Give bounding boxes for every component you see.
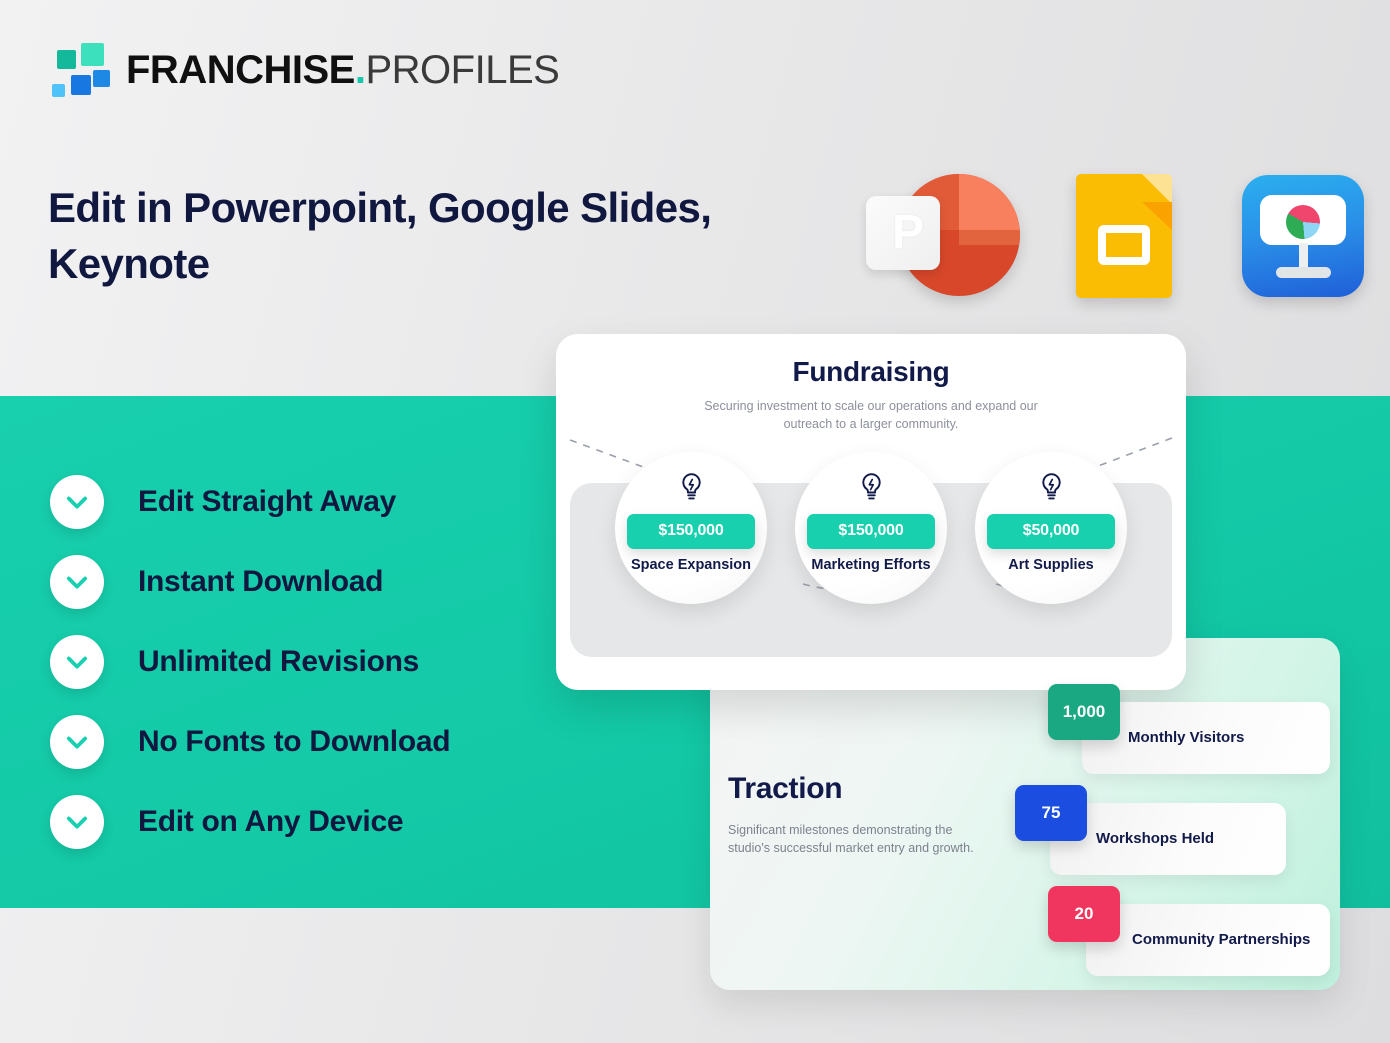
fundraising-item-name: Marketing Efforts [811, 557, 930, 575]
feature-label: Edit Straight Away [138, 485, 396, 519]
traction-metric-bar: Community Partnerships [1086, 904, 1330, 976]
lightbulb-bolt-icon [1038, 472, 1065, 507]
brand-name-dot: . [355, 48, 366, 92]
traction-subtitle: Significant milestones demonstrating the… [728, 821, 980, 857]
chevron-down-icon [50, 715, 104, 769]
features-list: Edit Straight Away Instant Download Unli… [50, 462, 610, 862]
powerpoint-letter: P [892, 209, 924, 257]
traction-metric-value: 75 [1015, 785, 1087, 841]
brand-name-bold: FRANCHISE [126, 48, 355, 92]
fundraising-title: Fundraising [556, 356, 1186, 388]
fundraising-item: $50,000 Art Supplies [975, 452, 1127, 604]
traction-metric-label: Community Partnerships [1132, 931, 1310, 949]
feature-label: Edit on Any Device [138, 805, 403, 839]
feature-item: Instant Download [50, 542, 610, 622]
traction-metric-row: Workshops Held 75 [1040, 785, 1330, 886]
brand-name-light: PROFILES [365, 48, 559, 92]
chevron-down-icon [50, 795, 104, 849]
fundraising-subtitle: Securing investment to scale our operati… [681, 398, 1061, 433]
traction-metric-value: 20 [1048, 886, 1120, 942]
traction-metric-label: Workshops Held [1096, 830, 1214, 848]
chevron-down-icon [50, 475, 104, 529]
powerpoint-icon: P [866, 170, 1006, 302]
fundraising-amount: $150,000 [807, 514, 935, 549]
fundraising-amount: $50,000 [987, 514, 1115, 549]
feature-item: Edit on Any Device [50, 782, 610, 862]
traction-title: Traction [728, 772, 842, 806]
traction-card: Traction Significant milestones demonstr… [710, 638, 1340, 990]
keynote-icon [1242, 175, 1364, 297]
fundraising-item: $150,000 Marketing Efforts [795, 452, 947, 604]
traction-metric-row: Monthly Visitors 1,000 [1040, 684, 1330, 785]
traction-metric-value: 1,000 [1048, 684, 1120, 740]
supported-apps: P [866, 170, 1364, 302]
page-headline: Edit in Powerpoint, Google Slides, Keyno… [48, 180, 748, 293]
fundraising-item-name: Art Supplies [1008, 557, 1093, 575]
feature-label: No Fonts to Download [138, 725, 450, 759]
fundraising-item: $150,000 Space Expansion [615, 452, 767, 604]
fundraising-amount: $150,000 [627, 514, 755, 549]
lightbulb-bolt-icon [678, 472, 705, 507]
feature-label: Instant Download [138, 565, 383, 599]
logo-mark-icon [48, 42, 110, 98]
fundraising-items: $150,000 Space Expansion $150,000 Market… [556, 452, 1186, 612]
traction-metric-label: Monthly Visitors [1128, 729, 1244, 747]
feature-item: Edit Straight Away [50, 462, 610, 542]
traction-metrics: Monthly Visitors 1,000 Workshops Held 75… [1040, 684, 1330, 987]
traction-metric-row: Community Partnerships 20 [1040, 886, 1330, 987]
feature-item: Unlimited Revisions [50, 622, 610, 702]
chevron-down-icon [50, 635, 104, 689]
fundraising-item-name: Space Expansion [631, 557, 751, 575]
brand-logo: FRANCHISE.PROFILES [48, 42, 559, 98]
feature-label: Unlimited Revisions [138, 645, 419, 679]
chevron-down-icon [50, 555, 104, 609]
feature-item: No Fonts to Download [50, 702, 610, 782]
brand-wordmark: FRANCHISE.PROFILES [126, 48, 559, 93]
fundraising-card: Fundraising Securing investment to scale… [556, 334, 1186, 690]
lightbulb-bolt-icon [858, 472, 885, 507]
google-slides-icon [1076, 174, 1172, 298]
